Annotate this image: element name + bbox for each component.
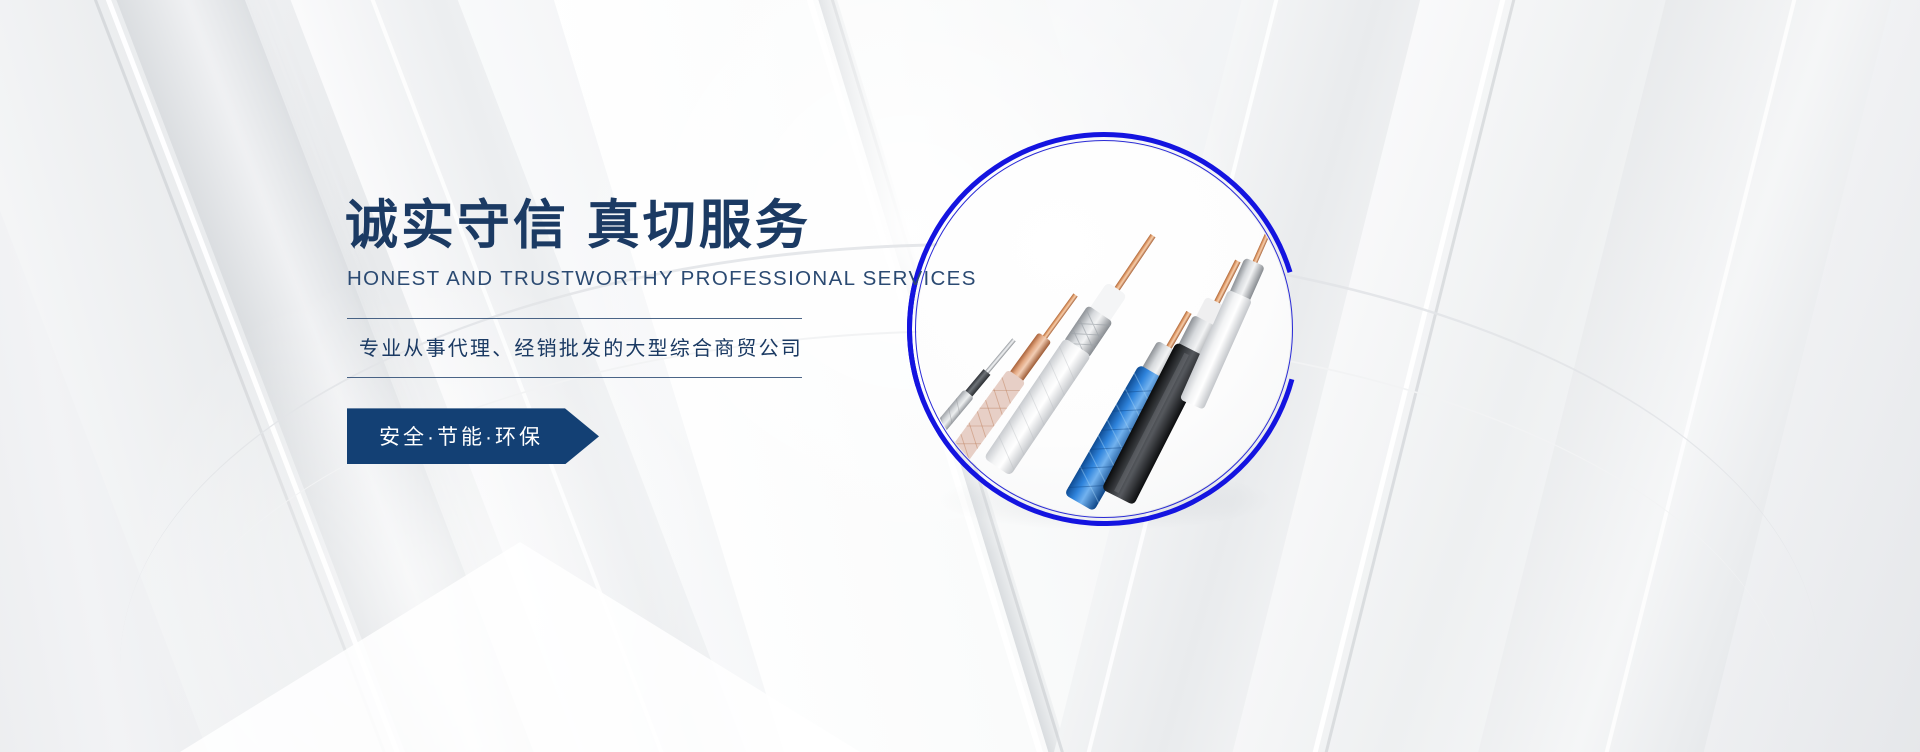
product-arc-accent-bottom bbox=[835, 60, 1373, 598]
product-showcase-circle bbox=[905, 130, 1305, 530]
background-seam-6 bbox=[1514, 0, 1890, 752]
hero-banner: 诚实守信 真切服务 HONEST AND TRUSTWORTHY PROFESS… bbox=[0, 0, 1920, 752]
hero-text-block: 诚实守信 真切服务 HONEST AND TRUSTWORTHY PROFESS… bbox=[345, 196, 905, 464]
hero-description: 专业从事代理、经销批发的大型综合商贸公司 bbox=[359, 332, 905, 361]
background-floor-triangle bbox=[180, 542, 860, 752]
background-panel-8 bbox=[1395, 0, 1920, 752]
feature-badge[interactable]: 安全·节能·环保 bbox=[347, 408, 599, 464]
background-panel-9 bbox=[1615, 0, 1920, 752]
badge-container: 安全·节能·环保 bbox=[347, 408, 905, 464]
divider-bottom bbox=[347, 377, 802, 378]
hero-subtitle-english: HONEST AND TRUSTWORTHY PROFESSIONAL SERV… bbox=[347, 267, 905, 291]
divider-top bbox=[347, 318, 802, 319]
hero-headline: 诚实守信 真切服务 bbox=[345, 196, 905, 255]
